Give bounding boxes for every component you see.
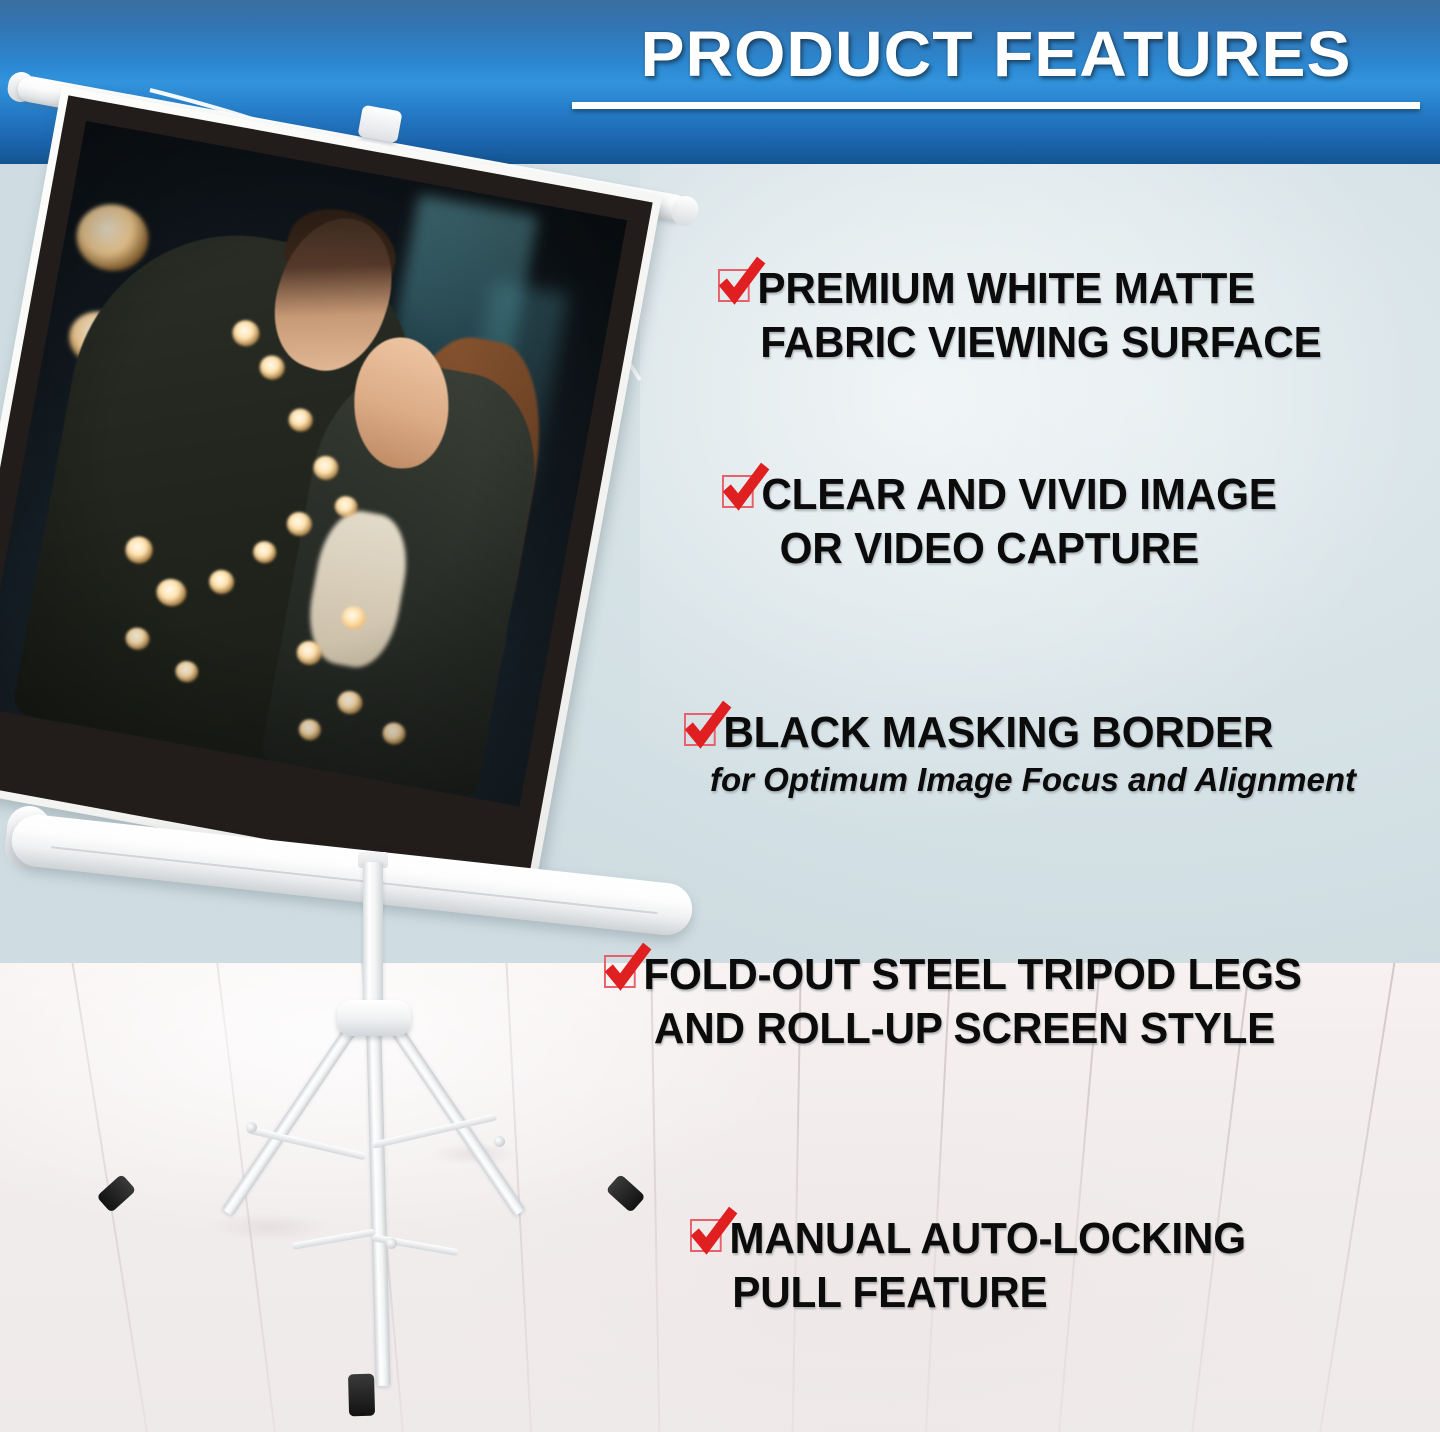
- tripod-foot-front: [348, 1374, 375, 1417]
- feature-item-4: FOLD-OUT STEEL TRIPOD LEGS AND ROLL-UP S…: [604, 948, 1331, 1056]
- tripod-brace-front-left: [291, 1228, 375, 1249]
- screen-fabric: [0, 86, 662, 896]
- tripod-hub: [337, 1000, 411, 1036]
- red-check-box-icon: [722, 475, 758, 512]
- red-check-box-icon: [690, 1219, 726, 1256]
- feature-item-2: CLEAR AND VIVID IMAGE OR VIDEO CAPTURE: [722, 468, 1300, 576]
- projected-photo: [0, 121, 627, 806]
- projector-screen-product-photo: [0, 0, 740, 1432]
- tripod-leg-front: [366, 1016, 391, 1386]
- tripod-joint: [246, 1122, 257, 1133]
- feature-4-line-1: FOLD-OUT STEEL TRIPOD LEGS: [643, 948, 1301, 1002]
- tripod-leg-right: [383, 1014, 525, 1216]
- red-check-box-icon: [604, 955, 640, 992]
- product-features-infographic: PRODUCT FEATURES: [0, 0, 1440, 1432]
- feature-item-5: MANUAL AUTO-LOCKING PULL FEATURE: [690, 1212, 1269, 1320]
- feature-1-line-1: PREMIUM WHITE MATTE: [757, 262, 1255, 316]
- feature-5-line-2: PULL FEATURE: [690, 1266, 1246, 1320]
- tripod-joint: [494, 1136, 505, 1147]
- feature-item-1: PREMIUM WHITE MATTE FABRIC VIEWING SURFA…: [718, 262, 1347, 370]
- feature-1-line-2: FABRIC VIEWING SURFACE: [718, 316, 1322, 370]
- black-masking-border: [0, 95, 653, 887]
- tripod-center-post: [363, 862, 383, 1012]
- tripod-foot-left: [96, 1174, 136, 1213]
- tripod-leg-left: [222, 1014, 364, 1216]
- feature-item-3: BLACK MASKING BORDER for Optimum Image F…: [684, 706, 1356, 800]
- feature-3-subtitle: for Optimum Image Focus and Alignment: [684, 760, 1356, 800]
- feature-2-line-2: OR VIDEO CAPTURE: [722, 522, 1277, 576]
- feature-2-line-1: CLEAR AND VIVID IMAGE: [761, 468, 1276, 522]
- tripod-foot-right: [606, 1174, 646, 1213]
- feature-3-line-1: BLACK MASKING BORDER: [723, 706, 1273, 760]
- tripod-joint: [386, 1238, 397, 1249]
- feature-5-line-1: MANUAL AUTO-LOCKING: [729, 1212, 1245, 1266]
- red-check-box-icon: [684, 713, 720, 750]
- red-check-box-icon: [718, 269, 754, 306]
- feature-4-line-2: AND ROLL-UP SCREEN STYLE: [604, 1002, 1302, 1056]
- cord-clip: [357, 105, 402, 144]
